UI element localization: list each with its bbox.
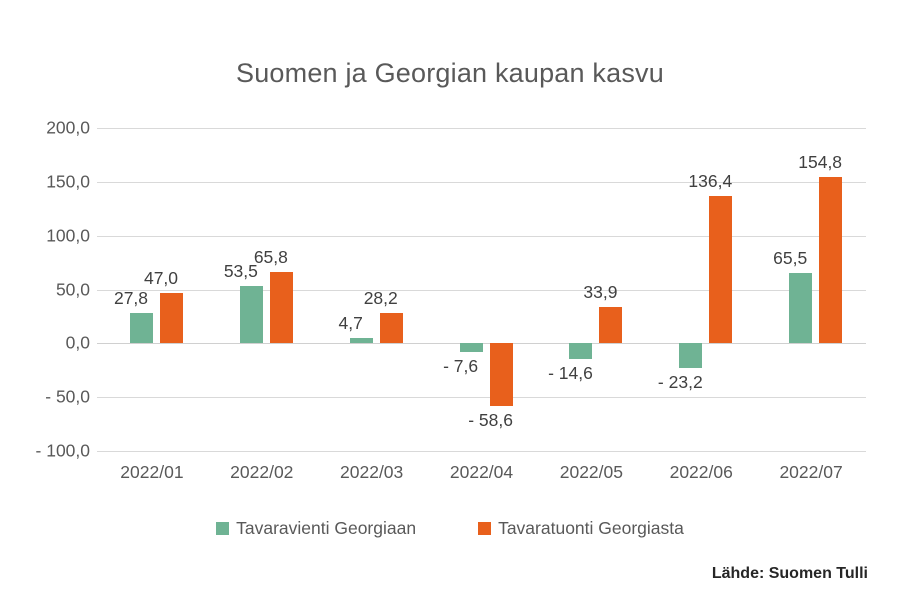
bar-group: 53,565,8 — [207, 128, 317, 451]
x-axis-tick-label: 2022/06 — [646, 462, 756, 492]
bar-data-label: 4,7 — [311, 313, 391, 334]
bar-data-label: - 23,2 — [640, 372, 720, 393]
bar-data-label: - 14,6 — [530, 363, 610, 384]
bar-group: 27,847,0 — [97, 128, 207, 451]
bar-export[interactable] — [460, 343, 483, 351]
bar-data-label: - 58,6 — [451, 410, 531, 431]
x-axis-tick-label: 2022/04 — [427, 462, 537, 492]
bar-data-label: 154,8 — [780, 152, 860, 173]
y-axis-tick-label: 50,0 — [4, 279, 90, 300]
bar-import[interactable] — [599, 307, 622, 343]
y-axis-tick-label: - 50,0 — [4, 387, 90, 408]
x-axis-tick-label: 2022/02 — [207, 462, 317, 492]
bar-export[interactable] — [569, 343, 592, 359]
bar-export[interactable] — [789, 273, 812, 344]
x-axis-tick-label: 2022/05 — [536, 462, 646, 492]
bar-import[interactable] — [270, 272, 293, 343]
bar-group: - 7,6- 58,6 — [427, 128, 537, 451]
bar-export[interactable] — [350, 338, 373, 343]
legend-swatch-icon — [216, 522, 229, 535]
chart-legend: Tavaravienti GeorgiaanTavaratuonti Georg… — [0, 518, 900, 539]
bar-import[interactable] — [160, 293, 183, 344]
bar-export[interactable] — [240, 286, 263, 344]
bar-data-label: 47,0 — [121, 268, 201, 289]
bar-groups: 27,847,053,565,84,728,2- 7,6- 58,6- 14,6… — [97, 128, 866, 451]
bar-data-label: 33,9 — [560, 282, 640, 303]
y-axis-tick-label: - 100,0 — [4, 441, 90, 462]
y-axis-tick-label: 150,0 — [4, 171, 90, 192]
bar-group: - 23,2136,4 — [646, 128, 756, 451]
legend-swatch-icon — [478, 522, 491, 535]
x-axis-tick-label: 2022/01 — [97, 462, 207, 492]
legend-label: Tavaratuonti Georgiasta — [498, 518, 684, 539]
bar-import[interactable] — [380, 313, 403, 343]
y-axis-tick-label: 200,0 — [4, 118, 90, 139]
source-note: Lähde: Suomen Tulli — [712, 565, 868, 583]
gridline — [97, 451, 866, 452]
y-axis-tick-label: 100,0 — [4, 225, 90, 246]
bar-data-label: 28,2 — [341, 288, 421, 309]
bar-export[interactable] — [679, 343, 702, 368]
bar-data-label: 136,4 — [670, 171, 750, 192]
bar-data-label: 65,8 — [231, 247, 311, 268]
bar-group: 65,5154,8 — [756, 128, 866, 451]
bar-import[interactable] — [490, 343, 513, 406]
bar-group: - 14,633,9 — [536, 128, 646, 451]
legend-item-import[interactable]: Tavaratuonti Georgiasta — [478, 518, 684, 539]
chart-container: Suomen ja Georgian kaupan kasvu 200,0150… — [0, 0, 900, 600]
bar-import[interactable] — [819, 177, 842, 344]
bar-data-label: 65,5 — [750, 248, 830, 269]
x-axis-tick-label: 2022/07 — [756, 462, 866, 492]
bar-import[interactable] — [709, 196, 732, 343]
bar-data-label: 27,8 — [91, 288, 171, 309]
chart-title: Suomen ja Georgian kaupan kasvu — [0, 58, 900, 89]
y-axis: 200,0150,0100,050,00,0- 50,0- 100,0 — [0, 128, 90, 451]
bar-group: 4,728,2 — [317, 128, 427, 451]
y-axis-tick-label: 0,0 — [4, 333, 90, 354]
x-axis: 2022/012022/022022/032022/042022/052022/… — [97, 462, 866, 492]
plot-area: 27,847,053,565,84,728,2- 7,6- 58,6- 14,6… — [97, 128, 866, 451]
legend-label: Tavaravienti Georgiaan — [236, 518, 416, 539]
legend-item-export[interactable]: Tavaravienti Georgiaan — [216, 518, 416, 539]
bar-export[interactable] — [130, 313, 153, 343]
bar-data-label: - 7,6 — [421, 356, 501, 377]
x-axis-tick-label: 2022/03 — [317, 462, 427, 492]
